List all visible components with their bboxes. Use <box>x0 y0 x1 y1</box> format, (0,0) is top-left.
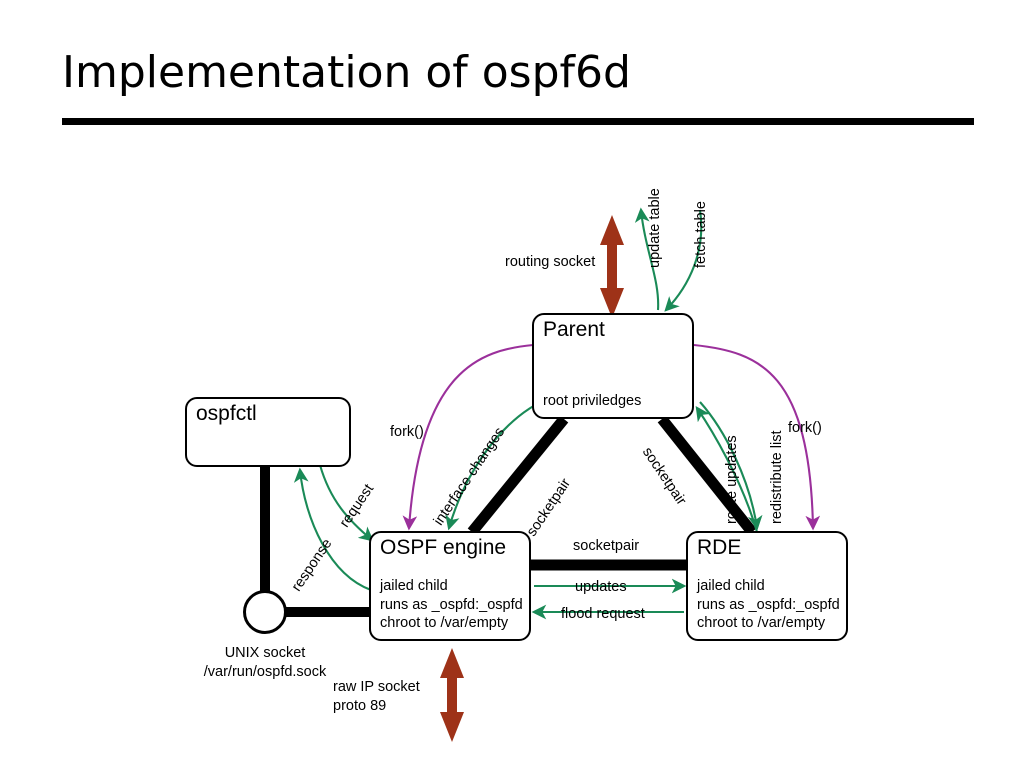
label-route-updates: route updates <box>723 435 741 524</box>
node-ospfctl[interactable]: ospfctl <box>185 397 351 467</box>
label-socketpair-parent-rde: socketpair <box>638 444 690 509</box>
raw-ip-socket-arrow <box>440 648 464 742</box>
annotation-raw-ip-socket: raw IP socket proto 89 <box>333 678 420 716</box>
label-flood-request: flood request <box>561 605 645 623</box>
label-fork-ospfengine: fork() <box>390 423 424 441</box>
label-update-table: update table <box>646 188 664 268</box>
label-routing-socket: routing socket <box>505 253 595 271</box>
label-fork-rde: fork() <box>788 419 822 437</box>
slide: Implementation of ospf6d <box>0 0 1024 768</box>
label-request: request <box>336 481 378 531</box>
annotation-unix-socket-line2: /var/run/ospfd.sock <box>185 663 345 682</box>
node-parent[interactable]: Parent root priviledges <box>532 313 694 419</box>
node-ospfctl-title: ospfctl <box>196 401 257 426</box>
unix-socket-node[interactable] <box>243 590 287 634</box>
node-rde-body-line: chroot to /var/empty <box>697 614 840 633</box>
node-ospf-engine[interactable]: OSPF engine jailed child runs as _ospfd:… <box>369 531 531 641</box>
annotation-raw-ip-socket-line1: raw IP socket <box>333 678 420 697</box>
architecture-diagram: Parent root priviledges ospfctl OSPF eng… <box>0 0 1024 768</box>
node-rde-body-line: runs as _ospfd:_ospfd <box>697 596 840 615</box>
node-rde-body-line: jailed child <box>697 577 840 596</box>
node-parent-body-line: root priviledges <box>543 392 641 411</box>
label-socketpair-parent-ospfengine: socketpair <box>523 475 575 540</box>
node-parent-body: root priviledges <box>543 392 641 411</box>
label-interface-changes: interface changes <box>430 424 509 529</box>
node-ospf-engine-body: jailed child runs as _ospfd:_ospfd chroo… <box>380 577 523 633</box>
node-rde[interactable]: RDE jailed child runs as _ospfd:_ospfd c… <box>686 531 848 641</box>
node-rde-body: jailed child runs as _ospfd:_ospfd chroo… <box>697 577 840 633</box>
node-ospf-engine-title: OSPF engine <box>380 535 506 560</box>
node-ospf-engine-body-line: runs as _ospfd:_ospfd <box>380 596 523 615</box>
routing-socket-arrow <box>600 215 624 318</box>
label-redistribute-list: redistribute list <box>768 431 786 524</box>
edge-layer <box>0 0 1024 768</box>
label-updates: updates <box>575 578 627 596</box>
annotation-unix-socket: UNIX socket /var/run/ospfd.sock <box>185 644 345 682</box>
label-response: response <box>288 536 336 596</box>
node-parent-title: Parent <box>543 317 605 342</box>
annotation-raw-ip-socket-line2: proto 89 <box>333 697 420 716</box>
edge-fork-ospfengine <box>409 345 533 528</box>
label-fetch-table: fetch table <box>692 201 710 268</box>
node-rde-title: RDE <box>697 535 741 560</box>
annotation-unix-socket-line1: UNIX socket <box>185 644 345 663</box>
node-ospf-engine-body-line: jailed child <box>380 577 523 596</box>
label-socketpair-ospfengine-rde: socketpair <box>573 537 639 555</box>
node-ospf-engine-body-line: chroot to /var/empty <box>380 614 523 633</box>
